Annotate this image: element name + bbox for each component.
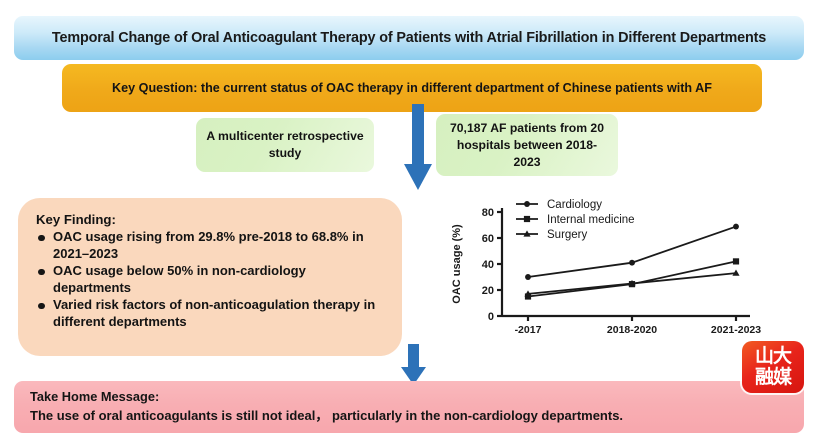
bullet-icon <box>38 269 45 276</box>
svg-text:Cardiology: Cardiology <box>547 199 602 211</box>
bullet-icon <box>38 235 45 242</box>
svg-text:60: 60 <box>482 233 494 245</box>
title-banner: Temporal Change of Oral Anticoagulant Th… <box>14 16 804 60</box>
oac-usage-line-chart: 020406080-20172018-20202021-2023OAC usag… <box>444 190 764 340</box>
arrow-down-icon-top <box>398 104 438 192</box>
key-question-text: Key Question: the current status of OAC … <box>112 80 712 97</box>
list-item-label: Varied risk factors of non-anticoagulati… <box>53 297 375 329</box>
svg-text:20: 20 <box>482 285 494 297</box>
key-finding-list: OAC usage rising from 29.8% pre-2018 to … <box>36 229 386 331</box>
svg-text:2021-2023: 2021-2023 <box>711 324 761 336</box>
bullet-icon <box>38 303 45 310</box>
list-item: Varied risk factors of non-anticoagulati… <box>36 297 386 330</box>
svg-text:80: 80 <box>482 207 494 219</box>
svg-text:Surgery: Surgery <box>547 229 588 241</box>
list-item: OAC usage below 50% in non-cardiology de… <box>36 263 386 296</box>
key-finding-box: Key Finding: OAC usage rising from 29.8%… <box>18 198 402 356</box>
key-finding-heading: Key Finding: <box>36 212 386 227</box>
take-home-message-box: Take Home Message: The use of oral antic… <box>14 381 804 433</box>
watermark-line-1: 山大 <box>755 346 791 367</box>
list-item-label: OAC usage below 50% in non-cardiology de… <box>53 263 306 295</box>
svg-text:2018-2020: 2018-2020 <box>607 324 657 336</box>
svg-text:0: 0 <box>488 311 494 323</box>
cohort-box: 70,187 AF patients from 20 hospitals bet… <box>436 114 618 176</box>
watermark-line-2: 融媒 <box>755 367 791 388</box>
page-title: Temporal Change of Oral Anticoagulant Th… <box>52 30 766 46</box>
study-design-box: A multicenter retrospective study <box>196 118 374 172</box>
take-home-body: The use of oral anticoagulants is still … <box>30 406 788 425</box>
arrow-down-icon-bottom <box>396 344 432 386</box>
study-design-text: A multicenter retrospective study <box>204 128 366 162</box>
svg-text:-2017: -2017 <box>515 324 542 336</box>
svg-text:40: 40 <box>482 259 494 271</box>
list-item-label: OAC usage rising from 29.8% pre-2018 to … <box>53 229 364 261</box>
svg-text:Internal medicine: Internal medicine <box>547 214 635 226</box>
chart-canvas: 020406080-20172018-20202021-2023OAC usag… <box>444 190 764 340</box>
list-item: OAC usage rising from 29.8% pre-2018 to … <box>36 229 386 262</box>
cohort-text: 70,187 AF patients from 20 hospitals bet… <box>444 120 610 171</box>
take-home-heading: Take Home Message: <box>30 387 788 406</box>
watermark-logo: 山大 融媒 <box>742 341 804 393</box>
svg-text:OAC usage (%): OAC usage (%) <box>451 224 463 304</box>
